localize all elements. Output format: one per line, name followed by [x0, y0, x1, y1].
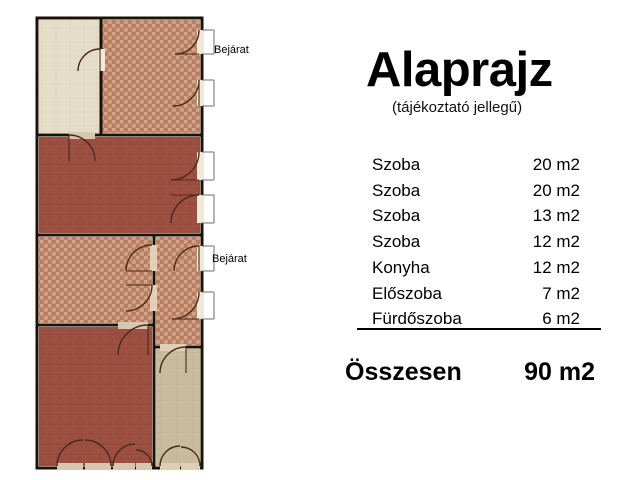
room-area-table-body: Szoba20 m2Szoba20 m2Szoba13 m2Szoba12 m2… — [372, 155, 594, 335]
room-area: 12 m2 — [504, 232, 594, 258]
room-row: Fürdőszoba6 m2 — [372, 309, 594, 335]
floor-plan-drawing: Bejárat Bejárat — [0, 0, 320, 480]
floorplan-page: Bejárat Bejárat Alaprajz (tájékoztató je… — [0, 0, 640, 480]
room-row: Előszoba7 m2 — [372, 284, 594, 310]
room-fill-tan-bottom-right — [156, 349, 200, 466]
room-name: Konyha — [372, 258, 504, 284]
entrance-label-top: Bejárat — [214, 44, 249, 56]
room-row: Szoba13 m2 — [372, 206, 594, 232]
room-name: Fürdőszoba — [372, 309, 504, 335]
room-fill-weave-top-right — [102, 20, 200, 133]
room-row: Szoba20 m2 — [372, 155, 594, 181]
total-row: Összesen 90 m2 — [345, 358, 601, 386]
legend-panel: Alaprajz (tájékoztató jellegű) Szoba20 m… — [320, 0, 640, 480]
room-area: 20 m2 — [504, 181, 594, 207]
room-fill-brick-upper-middle — [39, 137, 200, 233]
room-area: 20 m2 — [504, 155, 594, 181]
room-row: Szoba12 m2 — [372, 232, 594, 258]
room-fill-cream-top-left — [39, 20, 100, 133]
page-title: Alaprajz — [366, 46, 553, 95]
room-name: Előszoba — [372, 284, 504, 310]
room-fill-weave-corridor — [156, 237, 200, 345]
room-row: Szoba20 m2 — [372, 181, 594, 207]
total-label: Összesen — [345, 358, 462, 387]
total-value: 90 m2 — [524, 358, 595, 387]
room-area-table: Szoba20 m2Szoba20 m2Szoba13 m2Szoba12 m2… — [372, 155, 594, 335]
floor-plan-svg — [0, 0, 320, 480]
entrance-label-middle: Bejárat — [212, 253, 247, 265]
room-area: 13 m2 — [504, 206, 594, 232]
legend-divider — [357, 328, 601, 330]
room-name: Szoba — [372, 232, 504, 258]
room-name: Szoba — [372, 181, 504, 207]
room-name: Szoba — [372, 155, 504, 181]
page-subtitle: (tájékoztató jellegű) — [392, 99, 522, 116]
room-area: 6 m2 — [504, 309, 594, 335]
room-fill-brick-bottom-left — [39, 327, 152, 466]
room-row: Konyha12 m2 — [372, 258, 594, 284]
room-area: 7 m2 — [504, 284, 594, 310]
room-area: 12 m2 — [504, 258, 594, 284]
room-name: Szoba — [372, 206, 504, 232]
